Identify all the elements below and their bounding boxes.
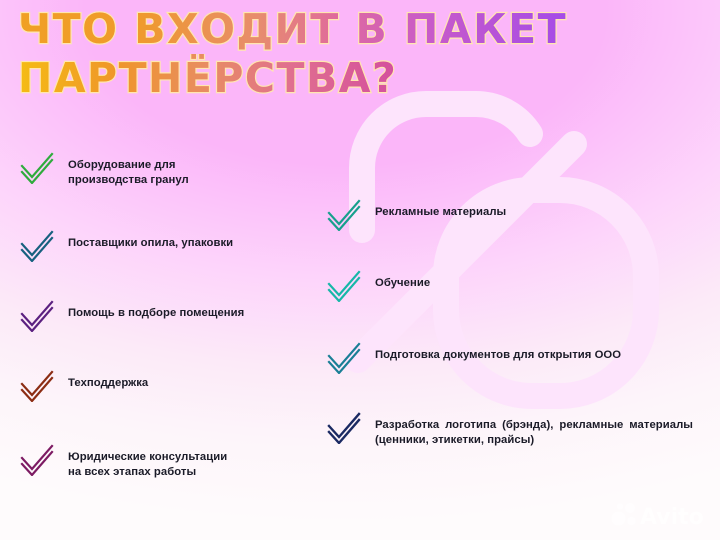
avito-wordmark: Avito <box>640 505 704 528</box>
feature-item-premises: Помощь в подборе помещения <box>18 298 308 332</box>
feature-label: Техподдержка <box>68 368 148 391</box>
avito-watermark: Avito <box>610 500 706 528</box>
feature-item-techsupport: Техподдержка <box>18 368 308 402</box>
title-line-1-text: ЧТО ВХОДИТ В ПАКЕТ <box>18 6 567 53</box>
feature-label: Разработка логотипа (брэнда), рекламные … <box>375 410 693 448</box>
feature-label: Подготовка документов для открытия ООО <box>375 340 621 363</box>
check-icon <box>325 410 363 444</box>
check-icon <box>18 368 56 402</box>
feature-item-branding: Разработка логотипа (брэнда), рекламные … <box>325 410 715 448</box>
check-icon <box>18 442 56 476</box>
poster-canvas: ЧТО ВХОДИТ В ПАКЕТ ПАРТНЁРСТВА? <box>0 0 720 540</box>
title-line-2: ПАРТНЁРСТВА? <box>18 54 708 110</box>
check-icon <box>325 268 363 302</box>
feature-item-suppliers: Поставщики опила, упаковки <box>18 228 308 262</box>
feature-label: Юридические консультации на всех этапах … <box>68 442 227 480</box>
feature-item-legal: Юридические консультации на всех этапах … <box>18 442 308 480</box>
feature-item-documents: Подготовка документов для открытия ООО <box>325 340 715 374</box>
background-watermark-shape <box>318 60 698 440</box>
check-icon <box>325 197 363 231</box>
check-icon <box>18 298 56 332</box>
title-line-2-text: ПАРТНЁРСТВА? <box>18 54 397 102</box>
feature-item-ad-materials: Рекламные материалы <box>325 197 715 231</box>
feature-label: Обучение <box>375 268 430 291</box>
title-line-1: ЧТО ВХОДИТ В ПАКЕТ <box>18 6 708 60</box>
check-icon <box>18 228 56 262</box>
feature-item-training: Обучение <box>325 268 715 302</box>
avito-logo-icon: Avito <box>610 500 706 528</box>
feature-label: Рекламные материалы <box>375 197 506 220</box>
check-icon <box>18 150 56 184</box>
feature-label: Оборудование для производства гранул <box>68 150 189 188</box>
check-icon <box>325 340 363 374</box>
feature-label: Поставщики опила, упаковки <box>68 228 233 251</box>
feature-label: Помощь в подборе помещения <box>68 298 244 321</box>
page-title: ЧТО ВХОДИТ В ПАКЕТ ПАРТНЁРСТВА? <box>18 6 708 110</box>
feature-item-equipment: Оборудование для производства гранул <box>18 150 308 188</box>
